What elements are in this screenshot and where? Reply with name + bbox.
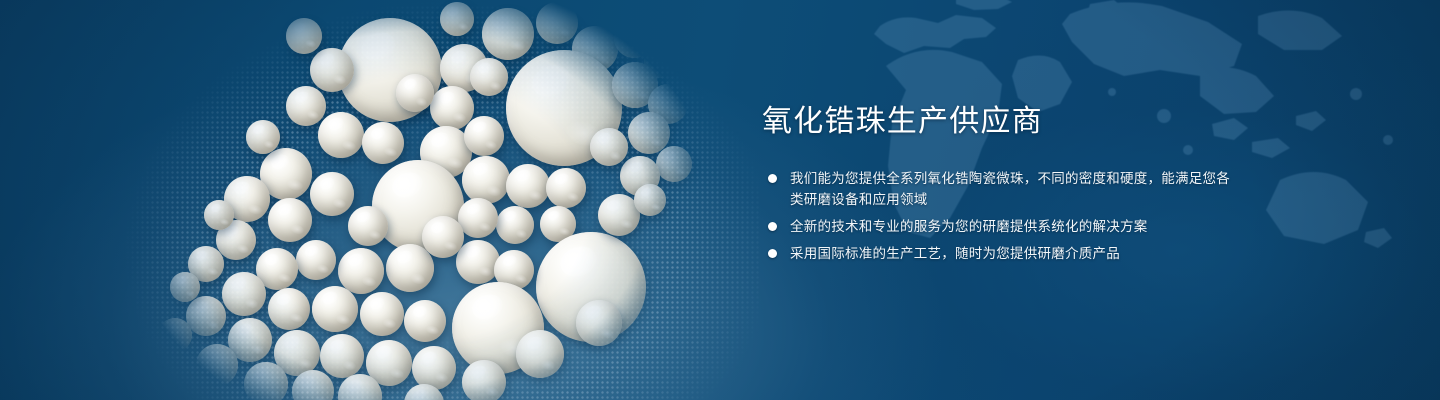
bullet-dot-icon <box>768 249 777 258</box>
list-item: 采用国际标准的生产工艺，随时为您提供研磨介质产品 <box>762 243 1232 264</box>
list-item-label: 全新的技术和专业的服务为您的研磨提供系统化的解决方案 <box>790 219 1148 234</box>
zirconia-beads-image <box>0 0 780 400</box>
list-item: 我们能为您提供全系列氧化锆陶瓷微珠，不同的密度和硬度，能满足您各类研磨设备和应用… <box>762 168 1232 210</box>
bullet-dot-icon <box>768 174 777 183</box>
banner-text-block: 氧化锆珠生产供应商 我们能为您提供全系列氧化锆陶瓷微珠，不同的密度和硬度，能满足… <box>762 104 1232 264</box>
list-item-label: 采用国际标准的生产工艺，随时为您提供研磨介质产品 <box>790 246 1120 261</box>
hero-banner: 氧化锆珠生产供应商 我们能为您提供全系列氧化锆陶瓷微珠，不同的密度和硬度，能满足… <box>0 0 1440 400</box>
bullet-dot-icon <box>768 222 777 231</box>
list-item: 全新的技术和专业的服务为您的研磨提供系统化的解决方案 <box>762 216 1232 237</box>
page-title: 氧化锆珠生产供应商 <box>762 104 1232 141</box>
feature-list: 我们能为您提供全系列氧化锆陶瓷微珠，不同的密度和硬度，能满足您各类研磨设备和应用… <box>762 168 1232 264</box>
list-item-label: 我们能为您提供全系列氧化锆陶瓷微珠，不同的密度和硬度，能满足您各类研磨设备和应用… <box>790 171 1230 207</box>
